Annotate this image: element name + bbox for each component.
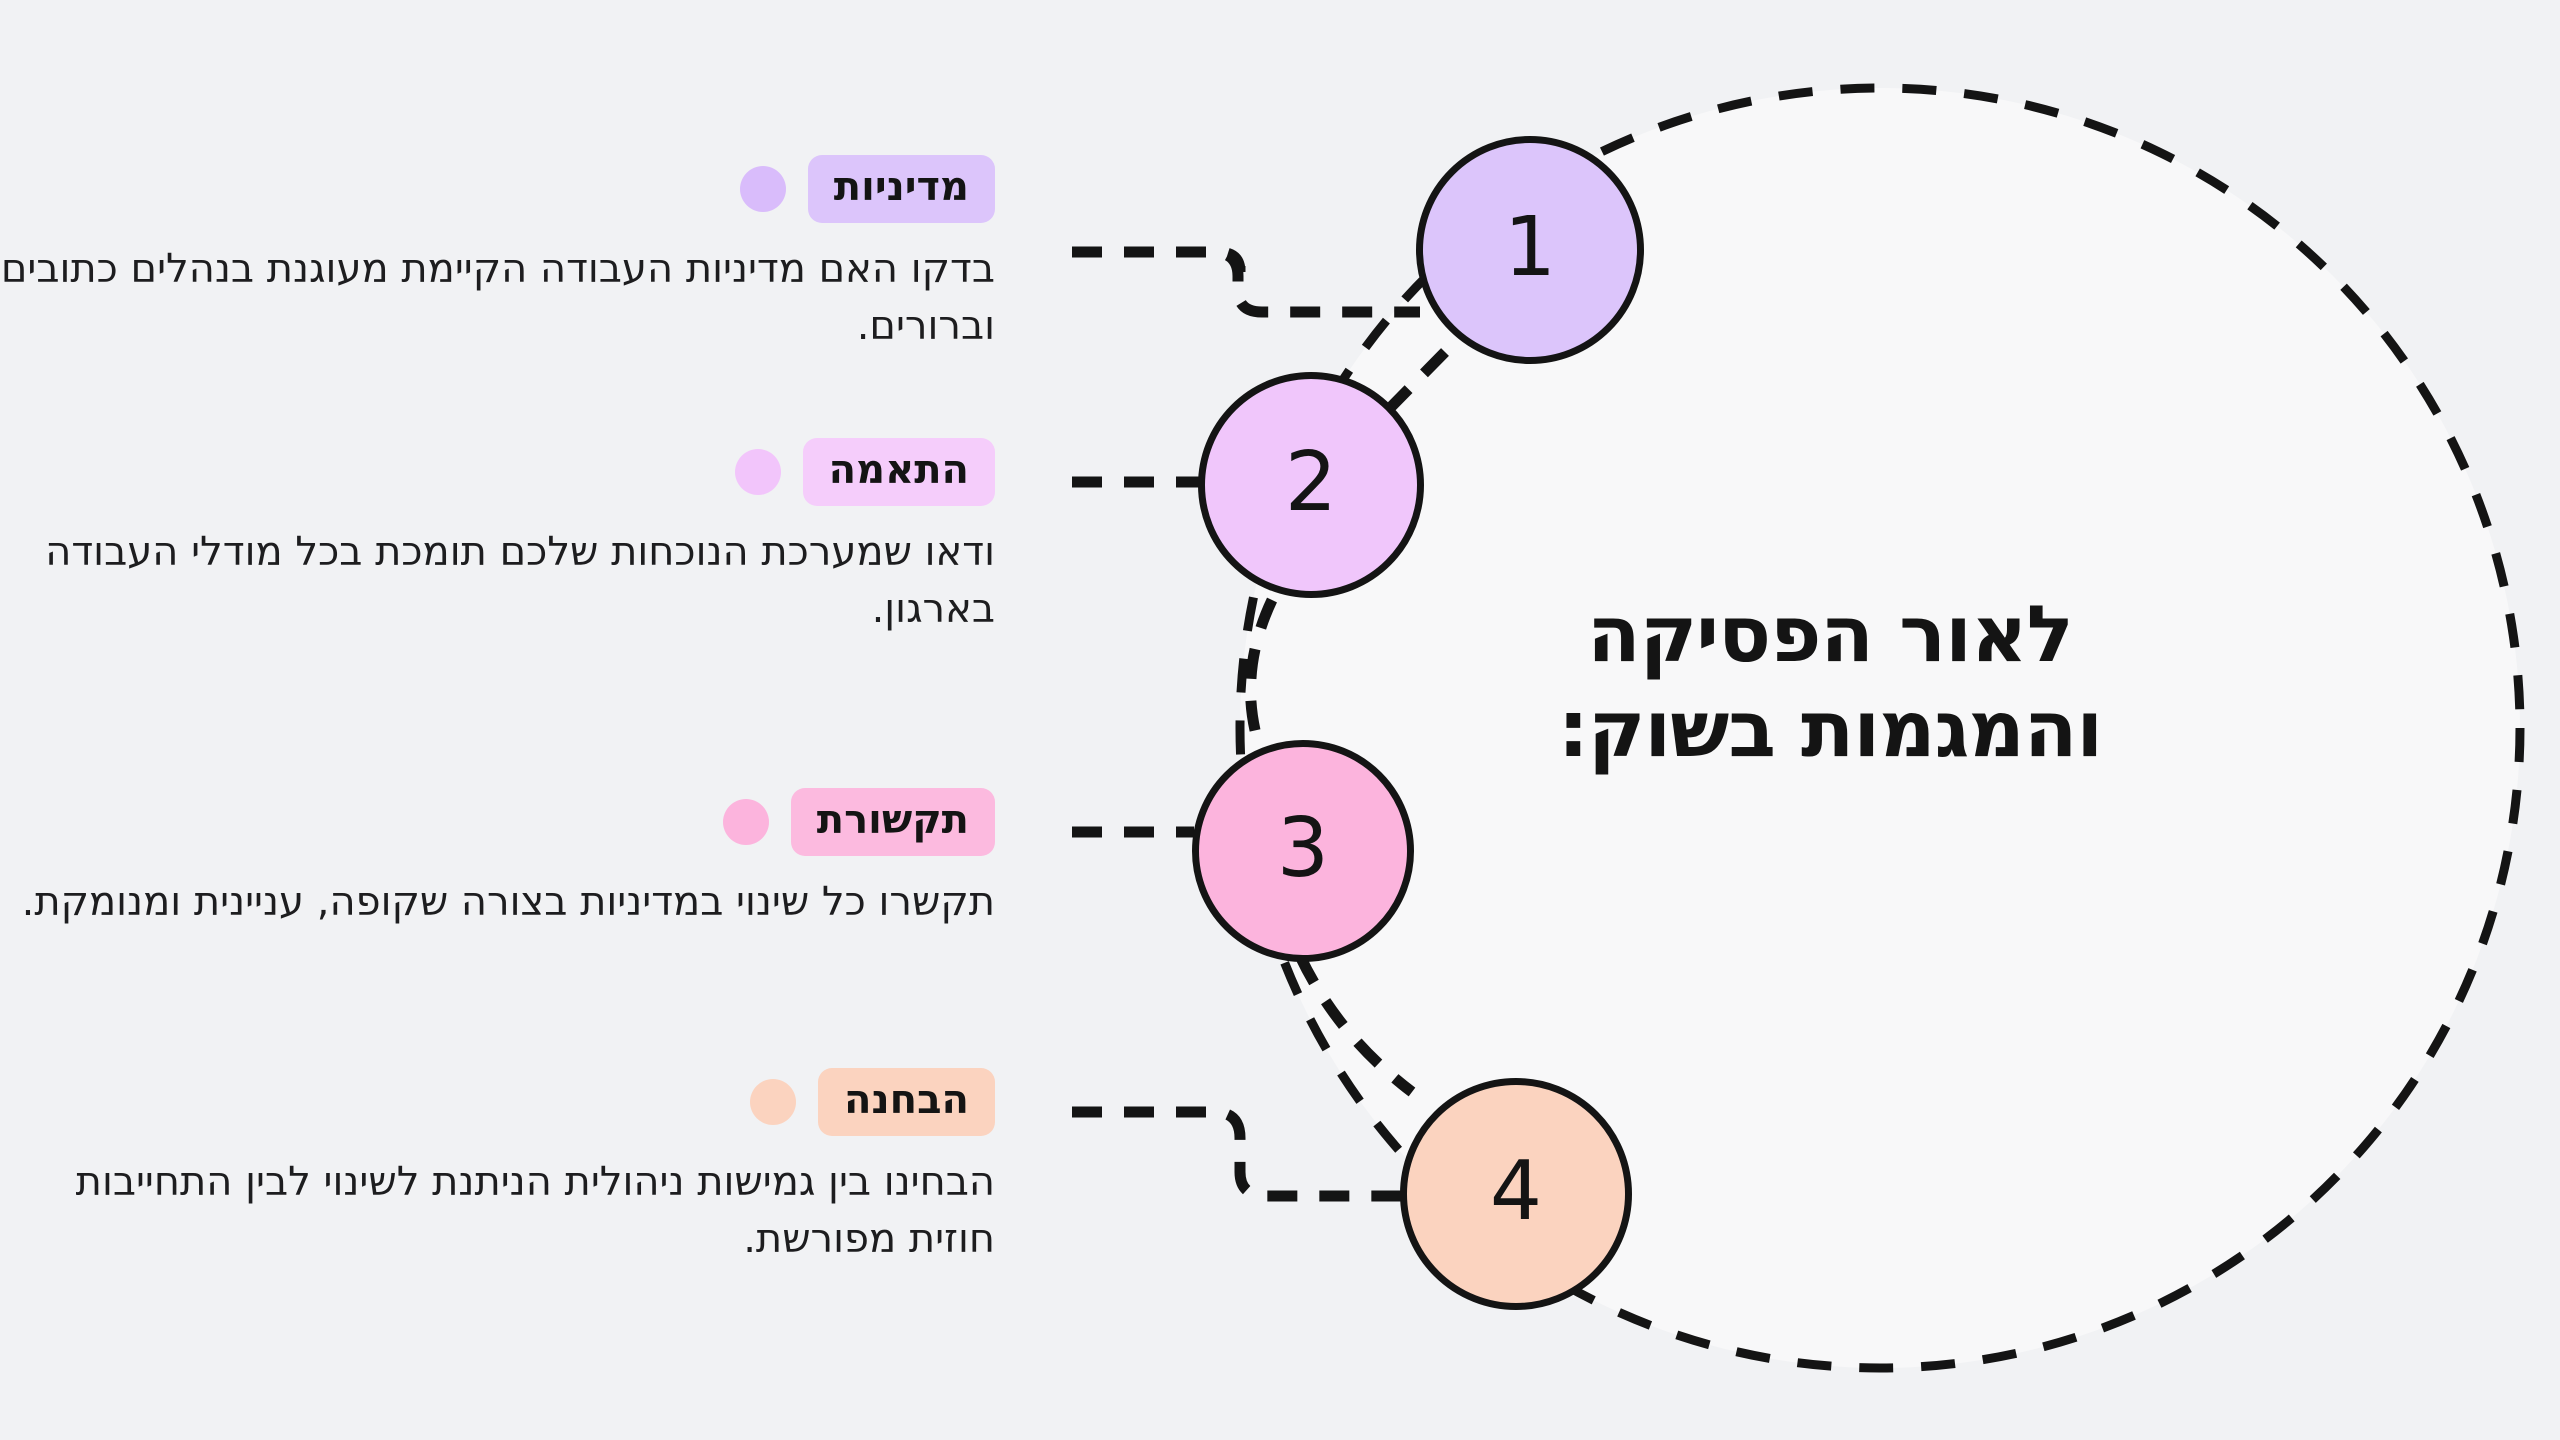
step-item-3: תקשורת תקשרו כל שינוי במדיניות בצורה שקו…	[0, 788, 995, 931]
step-item-4: הבחנה הבחינו בין גמישות ניהולית הניתנת ל…	[0, 1068, 995, 1268]
step-2-label[interactable]: התאמה	[803, 438, 995, 506]
link-node2-node3	[1251, 600, 1272, 742]
step-4-description: הבחינו בין גמישות ניהולית הניתנת לשינוי …	[0, 1154, 995, 1268]
step-1-label[interactable]: מדיניות	[808, 155, 995, 223]
step-3-dot-icon	[723, 799, 769, 845]
step-2-dot-icon	[735, 449, 781, 495]
page-title: לאור הפסיקה והמגמות בשוק:	[1380, 588, 2280, 778]
step-1-header: מדיניות	[0, 155, 995, 223]
step-1-description: בדקו האם מדיניות העבודה הקיימת מעוגנת בנ…	[0, 241, 995, 355]
step-node-3[interactable]: 3	[1192, 740, 1414, 962]
step-3-label[interactable]: תקשורת	[791, 788, 995, 856]
step-node-1-number: 1	[1504, 200, 1556, 295]
step-item-1: מדיניות בדקו האם מדיניות העבודה הקיימת מ…	[0, 155, 995, 355]
step-node-2[interactable]: 2	[1198, 372, 1424, 598]
step-4-label[interactable]: הבחנה	[818, 1068, 995, 1136]
step-item-2: התאמה ודאו שמערכת הנוכחות שלכם תומכת בכל…	[0, 438, 995, 638]
step-node-3-number: 3	[1277, 801, 1329, 896]
connector-1	[1072, 250, 1420, 312]
step-node-4-number: 4	[1490, 1144, 1542, 1239]
step-node-1[interactable]: 1	[1416, 136, 1644, 364]
step-3-header: תקשורת	[0, 788, 995, 856]
link-node3-node4	[1300, 956, 1412, 1092]
step-4-dot-icon	[750, 1079, 796, 1125]
infographic-canvas: לאור הפסיקה והמגמות בשוק: 1 2 3 4 מדיניו…	[0, 0, 2560, 1440]
connector-4	[1072, 1112, 1406, 1196]
step-node-2-number: 2	[1285, 435, 1337, 530]
link-node1-node2	[1390, 352, 1445, 408]
step-3-description: תקשרו כל שינוי במדיניות בצורה שקופה, עני…	[0, 874, 995, 931]
step-node-4[interactable]: 4	[1400, 1078, 1632, 1310]
step-1-dot-icon	[740, 166, 786, 212]
step-4-header: הבחנה	[0, 1068, 995, 1136]
step-2-header: התאמה	[0, 438, 995, 506]
step-2-description: ודאו שמערכת הנוכחות שלכם תומכת בכל מודלי…	[0, 524, 995, 638]
